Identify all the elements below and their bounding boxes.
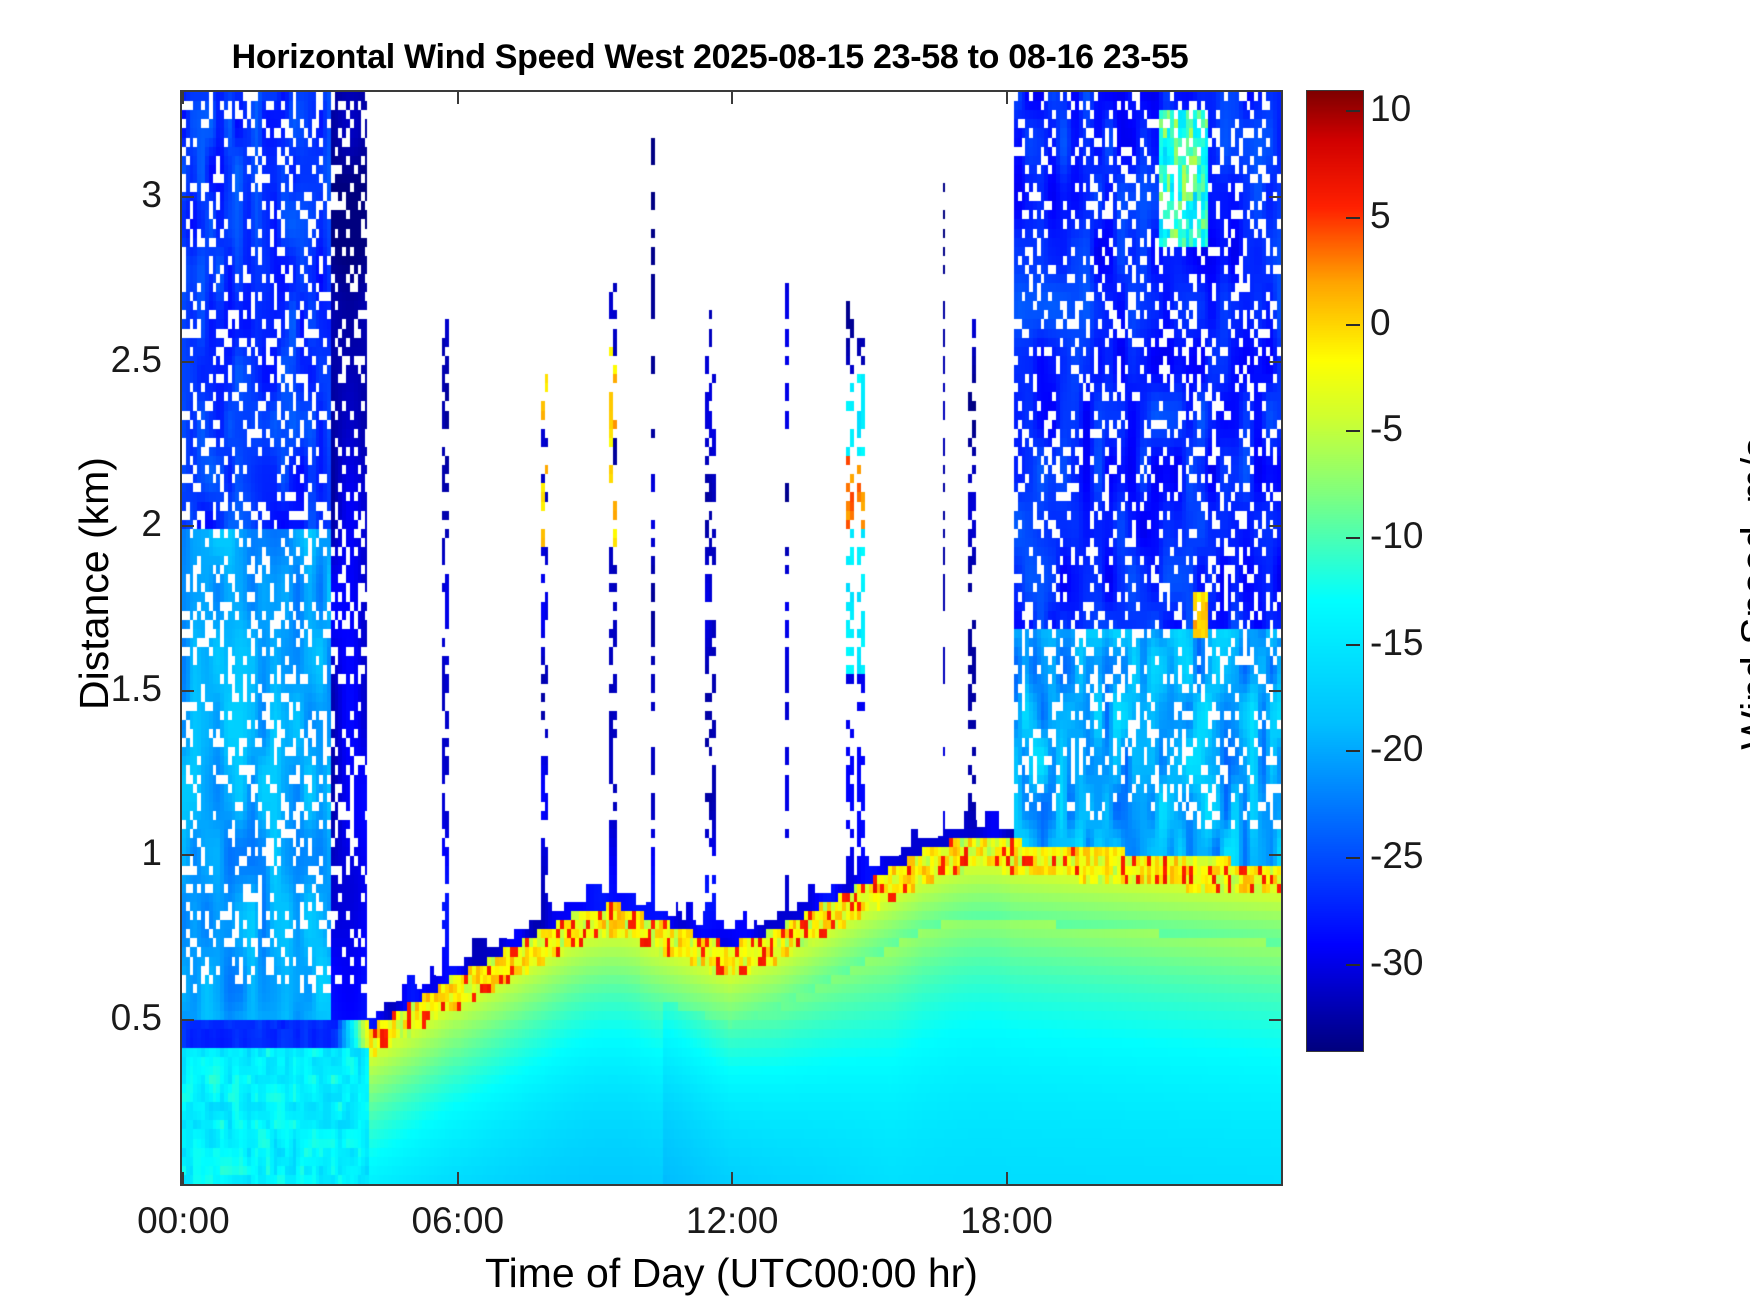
x-tick (182, 1172, 184, 1186)
x-tick-label: 18:00 (907, 1202, 1107, 1239)
colorbar-tick (1346, 537, 1360, 539)
colorbar-label: Wind Speed, m/s (1733, 437, 1750, 749)
colorbar-tick-label: -25 (1370, 837, 1423, 874)
colorbar-tick (1346, 750, 1360, 752)
y-tick-label: 3 (62, 176, 162, 213)
x-tick (731, 1172, 733, 1186)
y-tick (180, 196, 194, 198)
x-tick-top (1006, 90, 1008, 104)
y-tick-right (1269, 361, 1283, 363)
y-tick (180, 361, 194, 363)
x-tick-top (182, 90, 184, 104)
x-tick (1006, 1172, 1008, 1186)
y-tick-label: 0.5 (62, 999, 162, 1036)
colorbar-tick-label: -5 (1370, 410, 1403, 447)
colorbar-tick-label: -20 (1370, 730, 1423, 767)
figure-canvas: Horizontal Wind Speed West 2025-08-15 23… (0, 0, 1750, 1313)
colorbar-tick-label: 10 (1370, 90, 1411, 127)
x-tick (457, 1172, 459, 1186)
y-tick-label: 1 (62, 834, 162, 871)
colorbar-tick (1346, 644, 1360, 646)
colorbar-tick-label: -10 (1370, 517, 1423, 554)
colorbar-tick (1346, 430, 1360, 432)
colorbar-tick (1346, 857, 1360, 859)
x-tick-label: 12:00 (632, 1202, 832, 1239)
y-tick-right (1269, 690, 1283, 692)
plot-axes[interactable] (180, 90, 1283, 1186)
y-tick-right (1269, 196, 1283, 198)
y-tick (180, 525, 194, 527)
colorbar-tick-label: -30 (1370, 944, 1423, 981)
colorbar-tick-label: 5 (1370, 197, 1391, 234)
colorbar-tick (1346, 964, 1360, 966)
y-tick (180, 1019, 194, 1021)
colorbar-tick-label: 0 (1370, 304, 1391, 341)
y-tick-label: 2.5 (62, 341, 162, 378)
y-tick (180, 690, 194, 692)
x-axis-label: Time of Day (UTC00:00 hr) (180, 1250, 1283, 1297)
colorbar-tick (1346, 324, 1360, 326)
x-tick-label: 00:00 (83, 1202, 283, 1239)
colorbar-gradient (1306, 90, 1364, 1052)
colorbar-tick-label: -15 (1370, 624, 1423, 661)
colorbar-tick (1346, 217, 1360, 219)
y-tick-right (1269, 854, 1283, 856)
y-tick (180, 854, 194, 856)
colorbar[interactable] (1306, 90, 1362, 1050)
page-title: Horizontal Wind Speed West 2025-08-15 23… (0, 38, 1420, 77)
x-tick-label: 06:00 (358, 1202, 558, 1239)
colorbar-tick (1346, 110, 1360, 112)
x-tick-top (731, 90, 733, 104)
x-tick-top (457, 90, 459, 104)
y-axis-label: Distance (km) (71, 457, 118, 710)
heatmap-image (182, 92, 1281, 1184)
y-tick-right (1269, 1019, 1283, 1021)
y-tick-right (1269, 525, 1283, 527)
